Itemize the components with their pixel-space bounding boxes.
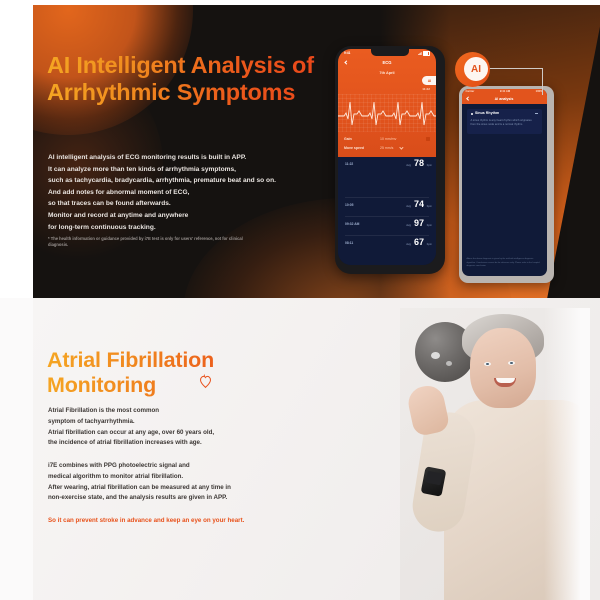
nav-title: AI analysis xyxy=(462,97,547,101)
ai-analysis-button[interactable]: AI xyxy=(422,76,436,85)
list-item[interactable]: 09:32 AM Avg 97 bpm xyxy=(338,217,436,232)
record-unit: bpm xyxy=(427,164,432,167)
eye-icon xyxy=(484,362,491,366)
control-value: 10 mm/mv xyxy=(380,137,396,141)
record-bpm: 74 xyxy=(414,199,424,209)
record-time: 09:32 AM xyxy=(345,222,359,226)
ai-disclaimer: Above the above diagnosis is given by th… xyxy=(467,258,542,268)
carrier-label: Carrier xyxy=(466,90,475,93)
ecg-speed-control[interactable]: Move speed 25 mm/s xyxy=(338,144,436,153)
section-atrial-fibrillation: Atrial Fibrillation Monitoring Atrial Fi… xyxy=(0,298,600,600)
record-unit: bpm xyxy=(427,205,432,208)
ai-badge: AI xyxy=(455,52,490,87)
diagnosis-title: Sinus Rhythm xyxy=(475,111,499,115)
ecg-gain-control[interactable]: Gain 10 mm/mv xyxy=(338,135,436,144)
phone-mockup-ecg: 9:41 ECG 7th April AI 11:22 xyxy=(335,46,445,274)
record-time: 11:22 xyxy=(345,162,353,166)
list-item[interactable]: 08:11 Avg 67 bpm xyxy=(338,236,436,251)
collapse-icon[interactable] xyxy=(535,113,538,114)
record-avg-label: Avg xyxy=(406,163,411,167)
nav-title: ECG xyxy=(338,60,436,65)
phone-mockup-ai-analysis: Carrier 9:41 AM 100% AI analysis Sinus R… xyxy=(459,86,554,283)
ecg-date[interactable]: 7th April xyxy=(338,71,436,75)
diagnosis-card[interactable]: Sinus Rhythm A sinus rhythm is any heart… xyxy=(467,109,542,134)
record-unit: bpm xyxy=(427,224,432,227)
section-ai-analysis: AI Intelligent Analysis of Arrhythmic Sy… xyxy=(0,0,600,298)
list-item[interactable]: 10:05 Avg 74 bpm xyxy=(338,198,436,213)
body-line: symptom of tachyarrhythmia. xyxy=(48,417,308,428)
chevron-down-icon[interactable] xyxy=(400,146,403,149)
record-time: 10:05 xyxy=(345,203,353,207)
ai-navbar: AI analysis xyxy=(462,95,547,104)
record-unit: bpm xyxy=(427,243,432,246)
control-label: Move speed xyxy=(344,146,364,150)
heart-icon xyxy=(197,372,214,390)
signal-icon xyxy=(418,52,422,55)
marketing-page: AI Intelligent Analysis of Arrhythmic Sy… xyxy=(0,0,600,600)
model-head xyxy=(470,328,536,408)
status-time: 9:41 xyxy=(344,51,350,55)
body-line: Atrial Fibrillation is the most common xyxy=(48,406,308,417)
body-line: i7E combines with PPG photoelectric sign… xyxy=(48,461,313,472)
body-line: the incidence of atrial fibrillation inc… xyxy=(48,438,308,449)
callout-connector xyxy=(487,68,543,95)
diagnosis-description: A sinus rhythm is any heart rhythm which… xyxy=(471,119,538,127)
control-label: Gain xyxy=(344,137,352,141)
body-text-top: AI intelligent analysis of ECG monitorin… xyxy=(48,152,348,233)
body-text-af-2: i7E combines with PPG photoelectric sign… xyxy=(48,461,313,504)
model-photo xyxy=(400,308,590,600)
body-line: medical algorithm to monitor atrial fibr… xyxy=(48,472,313,483)
record-bpm: 78 xyxy=(414,158,424,168)
ecg-screen: 9:41 ECG 7th April AI 11:22 xyxy=(338,49,436,265)
control-value: 25 mm/s xyxy=(380,146,393,150)
page-title-bottom: Atrial Fibrillation Monitoring xyxy=(47,348,317,398)
cta-text: So it can prevent stroke in advance and … xyxy=(48,516,328,526)
record-avg-label: Avg xyxy=(406,204,411,208)
list-item[interactable]: 11:22 Avg 78 bpm xyxy=(338,157,436,172)
phone-notch xyxy=(371,49,409,56)
record-time: 08:11 xyxy=(345,241,353,245)
record-avg-label: Avg xyxy=(406,242,411,246)
record-bpm: 67 xyxy=(414,237,424,247)
battery-icon xyxy=(423,51,430,56)
eye-icon xyxy=(508,361,515,365)
bullet-icon xyxy=(471,113,473,115)
record-bpm: 97 xyxy=(414,218,424,228)
ecg-navbar: ECG xyxy=(338,58,436,69)
body-line: non-exercise state, and the analysis res… xyxy=(48,493,313,504)
ecg-records-list: 11:22 Avg 78 bpm ✎ You can add notes her… xyxy=(338,157,436,265)
body-line: AI intelligent analysis of ECG monitorin… xyxy=(48,152,348,164)
disclaimer-text: * The health information or guidance pro… xyxy=(48,236,263,249)
body-line: for long-term continuous tracking. xyxy=(48,222,348,234)
ai-badge-label: AI xyxy=(464,57,488,81)
body-line: so that traces can be found afterwards. xyxy=(48,198,348,210)
body-line: such as tachycardia, bradycardia, arrhyt… xyxy=(48,175,348,187)
ecg-waveform xyxy=(338,94,436,132)
body-line: Atrial fibrillation can occur at any age… xyxy=(48,428,308,439)
ai-analysis-screen: Carrier 9:41 AM 100% AI analysis Sinus R… xyxy=(462,89,547,276)
body-line: And add notes for abnormal moment of ECG… xyxy=(48,187,348,199)
body-line: After wearing, atrial fibrillation can b… xyxy=(48,483,313,494)
ecg-trace-time: 11:22 xyxy=(422,87,430,91)
record-avg-label: Avg xyxy=(406,223,411,227)
page-title-top: AI Intelligent Analysis of Arrhythmic Sy… xyxy=(47,52,347,106)
close-icon[interactable] xyxy=(426,137,430,141)
body-text-af-1: Atrial Fibrillation is the most common s… xyxy=(48,406,308,449)
body-line: Monitor and record at anytime and anywhe… xyxy=(48,210,348,222)
body-line: It can analyze more than ten kinds of ar… xyxy=(48,164,348,176)
